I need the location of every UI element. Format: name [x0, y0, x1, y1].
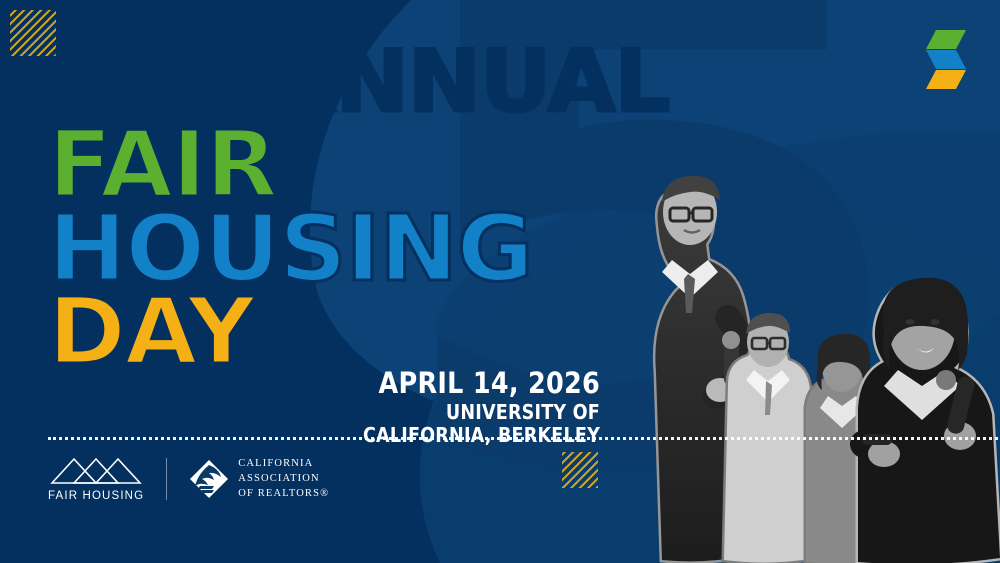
chevron-stack-logo — [922, 28, 970, 92]
headline-line-annual: 5TH ANNUAL 5TH ANNUAL — [48, 46, 669, 118]
dotted-divider — [48, 437, 1000, 440]
california-association-of-realtors-logo: CALIFORNIA ASSOCIATION OF REALTORS® — [189, 456, 329, 502]
fair-housing-logo: FAIR HOUSING — [48, 455, 144, 502]
eagle-diamond-icon — [189, 459, 229, 499]
car-line-3: OF REALTORS® — [238, 486, 329, 501]
logo-divider — [166, 458, 167, 500]
headline-line-fair: FAIR FAIR — [48, 126, 669, 203]
car-wordmark: CALIFORNIA ASSOCIATION OF REALTORS® — [238, 456, 329, 502]
event-venue: UNIVERSITY OF CALIFORNIA, BERKELEY — [336, 401, 600, 447]
three-peaks-roof-icon — [50, 455, 142, 485]
event-details: APRIL 14, 2026 UNIVERSITY OF CALIFORNIA,… — [300, 368, 600, 447]
car-line-1: CALIFORNIA — [238, 456, 329, 471]
photo-woman-speaking — [840, 258, 1000, 563]
diagonal-hatch-square-bottom-center — [562, 452, 598, 488]
event-date: APRIL 14, 2026 — [336, 368, 600, 398]
fair-housing-label: FAIR HOUSING — [48, 490, 144, 502]
fair-housing-day-banner: 5 — [0, 0, 1000, 563]
logo-row: FAIR HOUSING CALIFORNIA ASSOCIATION OF R… — [48, 455, 329, 502]
headline-line-day: DAY DAY — [48, 293, 669, 370]
headline-line-housing: HOUSING HOUSING — [48, 210, 669, 287]
car-line-2: ASSOCIATION — [238, 471, 329, 486]
headline-block: 5TH ANNUAL 5TH ANNUAL FAIR FAIR HOUSING … — [48, 46, 657, 370]
